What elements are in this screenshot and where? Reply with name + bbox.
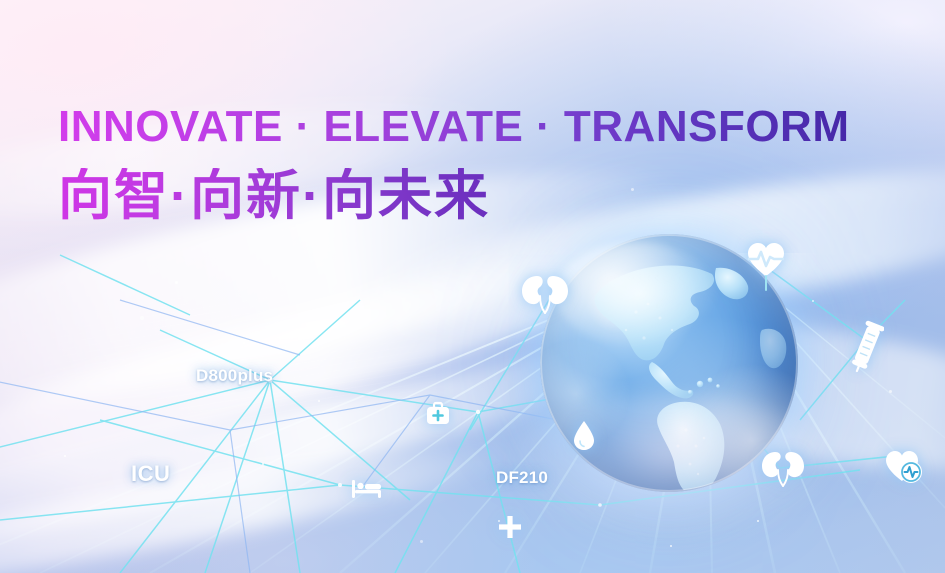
hero-banner: INNOVATE · ELEVATE · TRANSFORM 向智·向新·向未来… [0,0,945,573]
tag-d800plus: D800plus [196,366,273,386]
syringe-icon [850,318,884,374]
page-title: INNOVATE · ELEVATE · TRANSFORM [58,105,850,149]
medical-kit-icon [425,400,451,426]
tag-icu: ICU [131,461,170,487]
tag-df210: DF210 [496,468,548,488]
medical-cross-icon [498,515,522,539]
heart-pulse-icon [745,240,787,292]
water-drop-icon [572,420,596,451]
heart-monitor-icon [884,448,924,486]
hospital-bed-icon [351,478,383,500]
kidneys-icon [519,271,571,317]
page-subtitle: 向智·向新·向未来 [58,168,490,225]
kidneys-icon-2 [759,448,807,490]
